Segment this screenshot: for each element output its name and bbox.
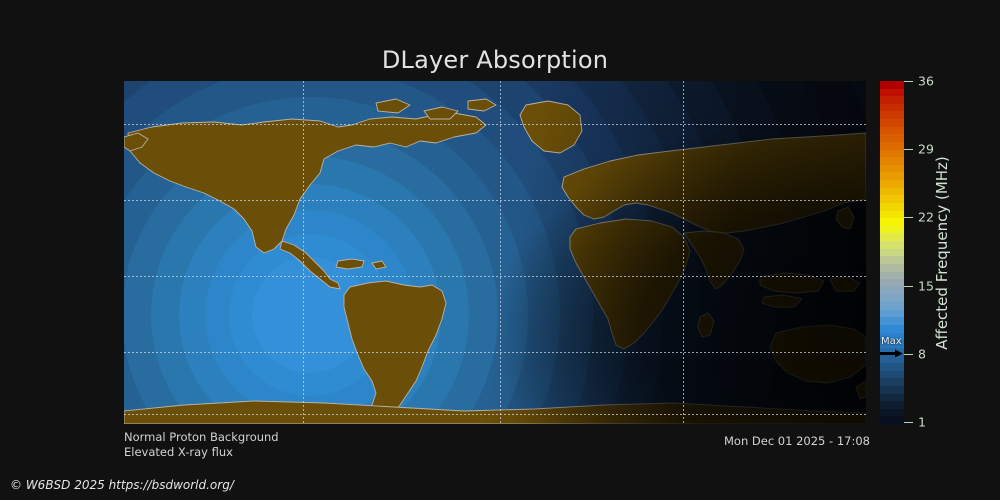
colorbar-tick-mark xyxy=(904,286,913,287)
colorbar-axis-label-text: Affected Frequency (MHz) xyxy=(933,156,951,350)
copyright-notice: © W6BSD 2025 https://bsdworld.org/ xyxy=(10,478,234,492)
page-title: DLayer Absorption xyxy=(0,46,990,74)
colorbar-tick-label: 8 xyxy=(918,347,926,362)
colorbar[interactable]: Max xyxy=(880,81,904,424)
max-marker-label: Max xyxy=(881,336,902,347)
colorbar-band xyxy=(880,416,904,424)
colorbar-tick-mark xyxy=(904,149,913,150)
land-layer xyxy=(124,81,866,424)
dlayer-absorption-plot: DLayer Absorption xyxy=(0,0,1000,500)
max-arrow-icon xyxy=(880,349,904,358)
colorbar-tick-label: 1 xyxy=(918,415,926,430)
colorbar-tick-mark xyxy=(904,81,913,82)
coastlines-svg xyxy=(124,81,866,424)
colorbar-gradient xyxy=(880,81,904,424)
colorbar-tick-mark xyxy=(904,422,913,423)
status-line-2: Elevated X-ray flux xyxy=(124,445,233,459)
colorbar-tick-mark xyxy=(904,217,913,218)
colorbar-tick-mark xyxy=(904,354,913,355)
timestamp: Mon Dec 01 2025 - 17:08 xyxy=(724,434,870,448)
status-line-1: Normal Proton Background xyxy=(124,430,279,444)
world-map[interactable] xyxy=(124,81,866,424)
colorbar-axis-label: Affected Frequency (MHz) xyxy=(931,81,953,424)
